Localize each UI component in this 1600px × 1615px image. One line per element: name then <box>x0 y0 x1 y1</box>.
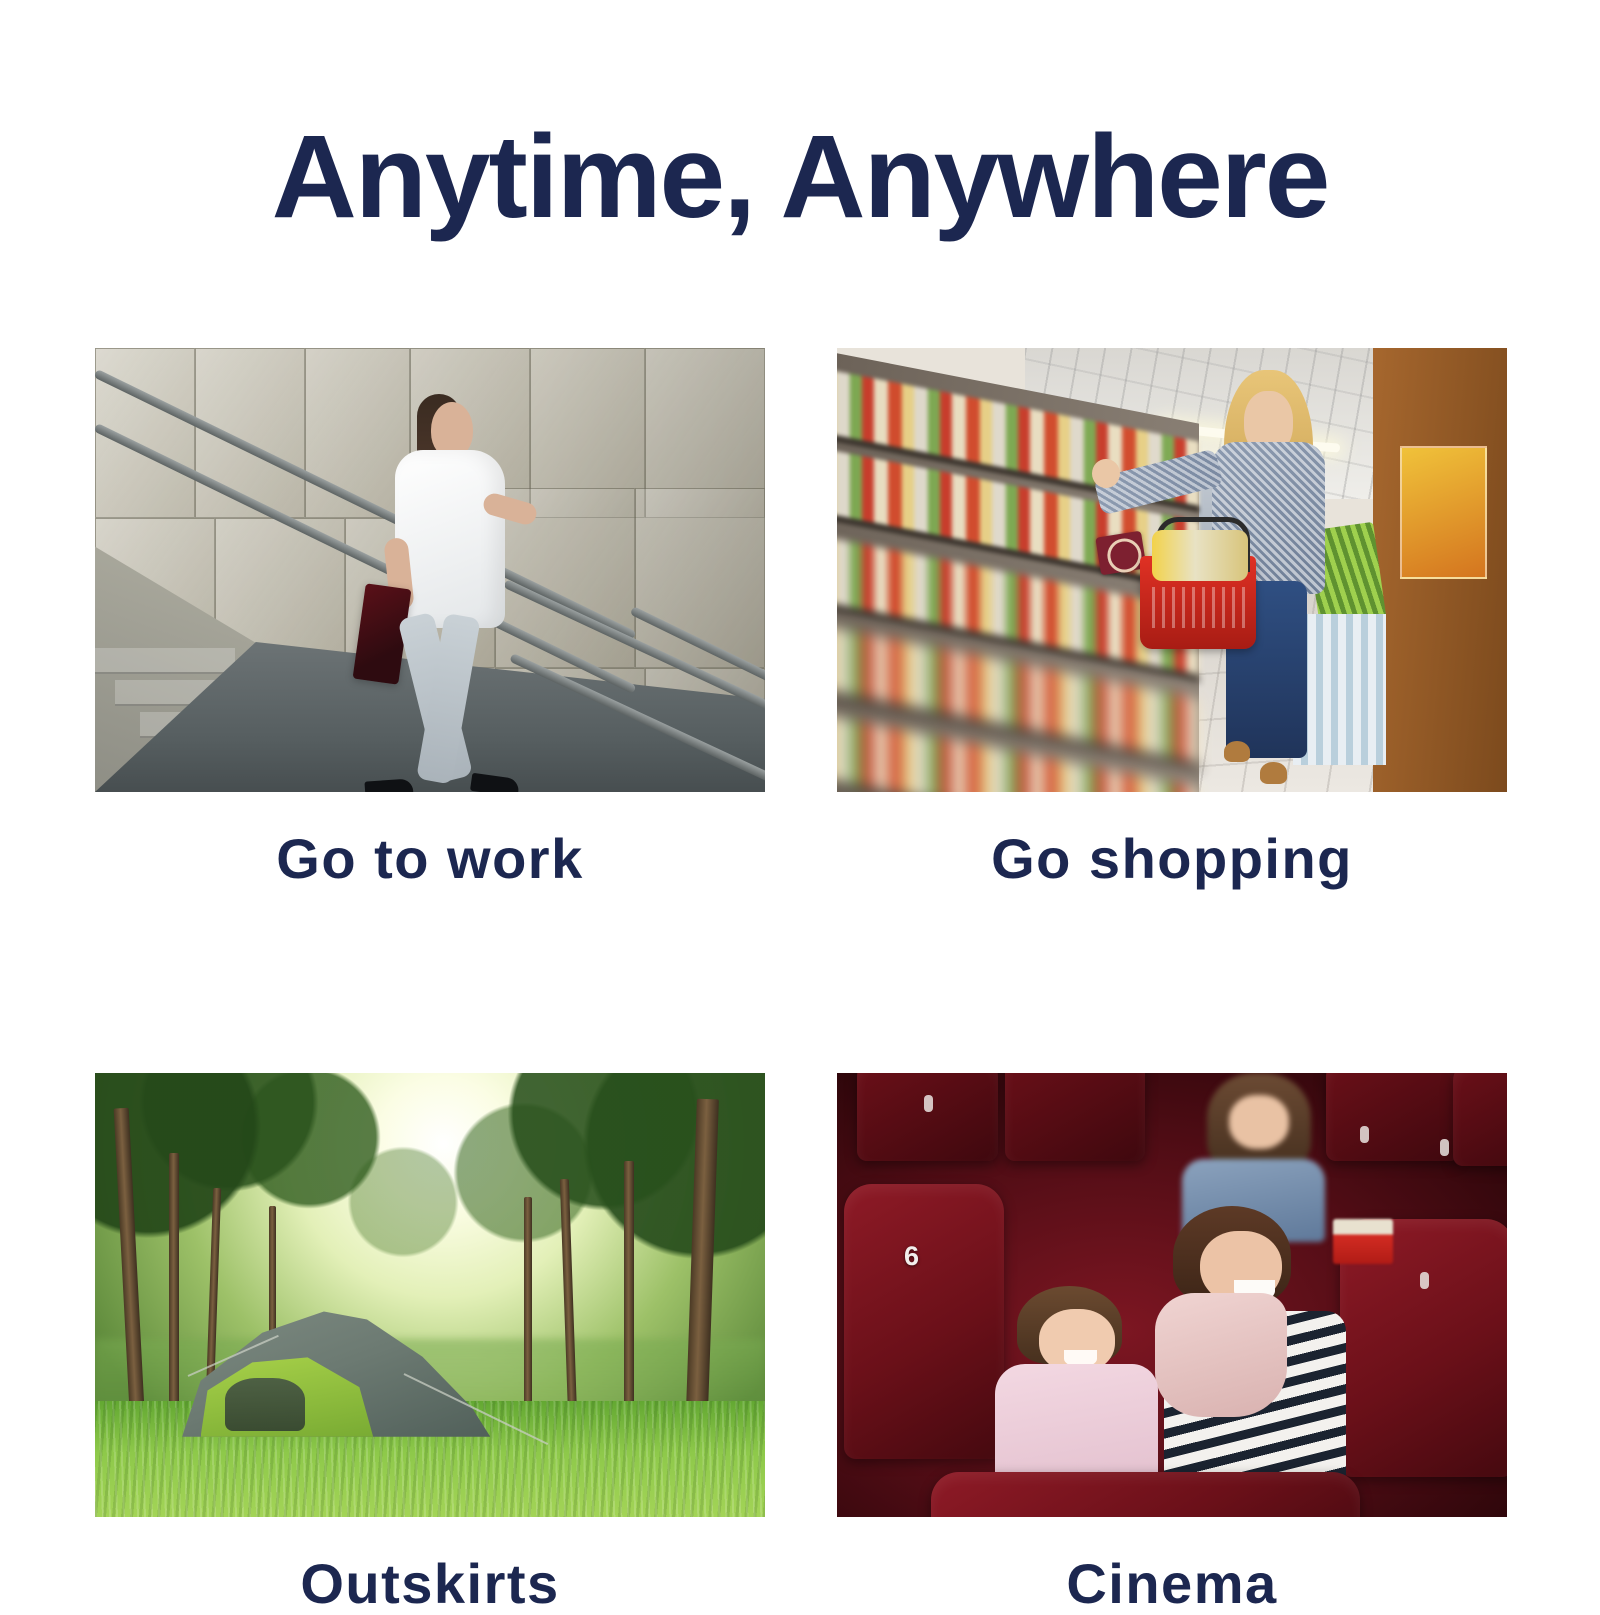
shoe <box>1224 741 1250 762</box>
photo-cinema: 6 <box>837 1073 1507 1517</box>
seat-marker <box>924 1095 933 1112</box>
feature-card-go-shopping[interactable]: Go shopping <box>837 348 1507 890</box>
caption-go-shopping: Go shopping <box>837 828 1507 890</box>
feature-card-cinema[interactable]: 6 <box>837 1073 1507 1615</box>
shoe-front <box>470 773 520 792</box>
photo-go-shopping <box>837 348 1507 792</box>
mother <box>1132 1206 1360 1517</box>
poster-root: Anytime, Anywhere <box>0 0 1600 1600</box>
feature-card-go-to-work[interactable]: Go to work <box>95 348 765 890</box>
basket-groceries <box>1152 530 1248 581</box>
seat-marker <box>1360 1126 1369 1143</box>
stair-step <box>95 648 235 674</box>
seat-marker <box>1420 1272 1429 1289</box>
cinema-seat <box>844 1184 1005 1459</box>
caption-outskirts: Outskirts <box>95 1553 765 1615</box>
seat-marker <box>1440 1139 1449 1156</box>
shoe-back <box>364 778 413 792</box>
walking-woman <box>367 388 567 792</box>
tent-door <box>225 1378 305 1431</box>
cinema-seat-foreground <box>931 1472 1360 1516</box>
endcap-poster <box>1400 446 1487 579</box>
cinema-seat <box>1453 1073 1507 1166</box>
face <box>1229 1095 1288 1149</box>
caption-cinema: Cinema <box>837 1553 1507 1615</box>
tree-trunk <box>624 1161 634 1419</box>
caption-go-to-work: Go to work <box>95 828 765 890</box>
feature-grid: Go to work <box>95 348 1507 1614</box>
feature-row-2: Outskirts 6 <box>95 1073 1507 1615</box>
page-title: Anytime, Anywhere <box>0 116 1600 240</box>
pink-scarf <box>1155 1293 1287 1417</box>
tree-trunk <box>169 1153 179 1428</box>
shopper <box>1172 370 1373 792</box>
cinema-seat <box>1005 1073 1146 1162</box>
feature-row-1: Go to work <box>95 348 1507 890</box>
shoe <box>1260 762 1286 783</box>
seat-number: 6 <box>904 1241 919 1272</box>
camping-tent <box>182 1304 490 1437</box>
hand <box>1092 459 1120 489</box>
feature-card-outskirts[interactable]: Outskirts <box>95 1073 765 1615</box>
cinema-seat <box>857 1073 998 1162</box>
tree-trunk <box>524 1197 532 1419</box>
photo-outskirts <box>95 1073 765 1517</box>
photo-go-to-work <box>95 348 765 792</box>
